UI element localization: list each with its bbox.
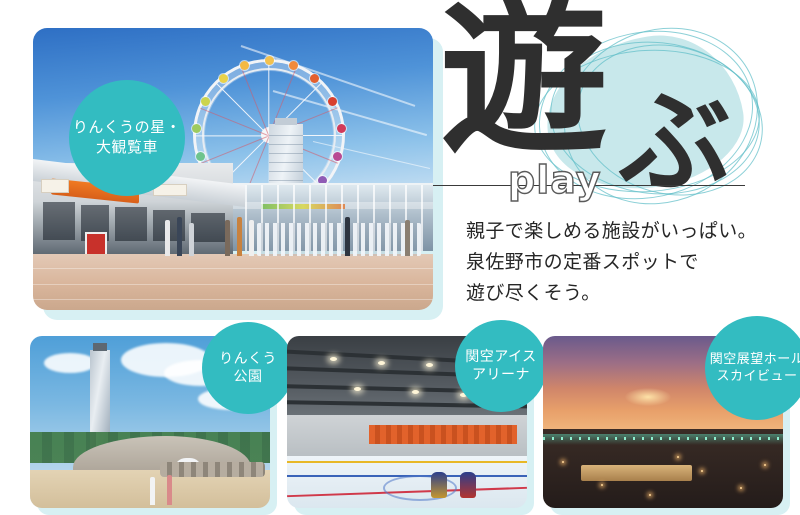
badge-line-1: 関空アイス xyxy=(465,348,536,366)
plaza-ground xyxy=(33,254,433,310)
page-title-romaji: play xyxy=(508,158,601,202)
badge-rinku-ferris-wheel[interactable]: りんくうの星・ 大観覧車 xyxy=(69,80,185,196)
description-text: 親子で楽しめる施設がいっぱい。 泉佐野市の定番スポットで 遊び尽くそう。 xyxy=(466,216,796,308)
terminal-building xyxy=(581,465,691,481)
title-block: 遊 ぶ play 親子で楽しめる施設がいっぱい。 泉佐野市の定番スポットで 遊び… xyxy=(436,0,800,330)
badge-line-2: 公園 xyxy=(234,368,263,386)
spectator-seats xyxy=(369,425,518,444)
badge-kanku-ice-arena[interactable]: 関空アイス アリーナ xyxy=(455,320,547,412)
hero-photo-card[interactable]: りんくうの星・ 大観覧車 xyxy=(33,28,433,310)
description-line-3: 遊び尽くそう。 xyxy=(466,278,796,309)
badge-line-1: りんくうの星・ xyxy=(73,118,181,138)
badge-line-2: スカイビュー xyxy=(716,368,797,385)
badge-line-2: 大観覧車 xyxy=(96,138,158,158)
thumbnail-card-sky-view[interactable]: 関空展望ホール スカイビュー xyxy=(543,336,783,508)
mascot-character xyxy=(460,472,476,498)
mascot-character xyxy=(431,472,447,498)
page-title-kana: ぶ xyxy=(619,88,731,200)
badge-line-1: りんくう xyxy=(219,350,277,368)
page-title-kanji: 遊 xyxy=(440,0,608,164)
badge-kanku-sky-view[interactable]: 関空展望ホール スカイビュー xyxy=(705,316,800,420)
play-section-banner: りんくうの星・ 大観覧車 りんくう 公園 xyxy=(0,0,800,515)
badge-line-2: アリーナ xyxy=(472,366,530,384)
thumbnail-card-rinku-park[interactable]: りんくう 公園 xyxy=(30,336,270,508)
outdoor-chairs xyxy=(257,223,421,257)
badge-rinku-park[interactable]: りんくう 公園 xyxy=(202,322,294,414)
badge-line-1: 関空展望ホール xyxy=(710,351,800,368)
airport-apron xyxy=(543,429,783,508)
description-line-1: 親子で楽しめる施設がいっぱい。 xyxy=(466,216,796,247)
description-line-2: 泉佐野市の定番スポットで xyxy=(466,247,796,278)
thumbnail-card-ice-arena[interactable]: 関空アイス アリーナ xyxy=(287,336,527,508)
